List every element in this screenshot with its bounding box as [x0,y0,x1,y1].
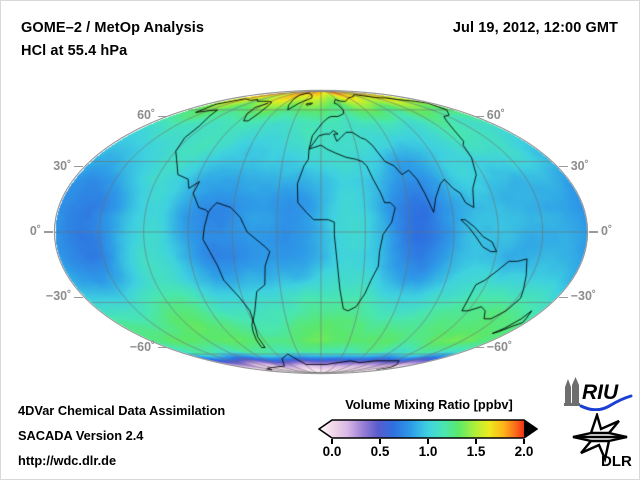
riu-wordmark: RIU [582,381,619,404]
colorbar-tick-label: 2.0 [515,444,534,459]
latitude-tick [475,347,484,348]
latitude-tick [475,116,484,117]
mollweide-globe [55,91,587,373]
latitude-label: −60˚ [1,340,155,354]
latitude-tick [74,297,83,298]
dlr-logo: DLR [567,413,635,469]
colorbar-title: Volume Mixing Ratio [ppbv] [313,397,545,412]
latitude-label: 0˚ [1,224,41,238]
latitude-label: −30˚ [1,289,71,303]
colorbar: Volume Mixing Ratio [ppbv] 0.00.51.01.52… [313,397,545,469]
latitude-label: 30˚ [571,159,589,173]
latitude-label: 60˚ [487,108,505,122]
assimilation-method-label: 4DVar Chemical Data Assimilation [18,403,225,418]
version-label: SACADA Version 2.4 [18,428,143,443]
url-label: http://wdc.dlr.de [18,453,116,468]
colorbar-tick-label: 0.5 [371,444,390,459]
datetime-label: Jul 19, 2012, 12:00 GMT [453,20,618,36]
latitude-label: 0˚ [601,224,612,238]
page-title: GOME–2 / MetOp Analysis [21,20,204,36]
colorbar-tick-label: 1.0 [419,444,438,459]
riu-logo: RIU [559,375,635,411]
colorbar-tick-labels: 0.00.51.01.52.0 [313,444,545,464]
world-map: 60˚60˚30˚30˚0˚0˚−30˚−30˚−60˚−60˚ [1,79,640,384]
latitude-tick [158,347,167,348]
latitude-tick [559,166,568,167]
latitude-label: 60˚ [1,108,155,122]
colorbar-tick-label: 1.5 [467,444,486,459]
globe-clip [55,91,587,373]
hcl-concentration-field [55,91,587,373]
colorbar-gradient [318,419,538,439]
latitude-label: −60˚ [487,340,512,354]
dlr-wordmark: DLR [601,453,632,469]
latitude-tick [44,231,53,232]
latitude-tick [589,231,598,232]
latitude-label: 30˚ [1,159,71,173]
latitude-label: −30˚ [571,289,596,303]
colorbar-tick-label: 0.0 [323,444,342,459]
riu-tower-icon [564,377,580,406]
species-level-label: HCl at 55.4 hPa [21,43,127,59]
latitude-tick [74,166,83,167]
latitude-tick [158,116,167,117]
figure-canvas: GOME–2 / MetOp Analysis HCl at 55.4 hPa … [0,0,640,480]
latitude-tick [559,297,568,298]
